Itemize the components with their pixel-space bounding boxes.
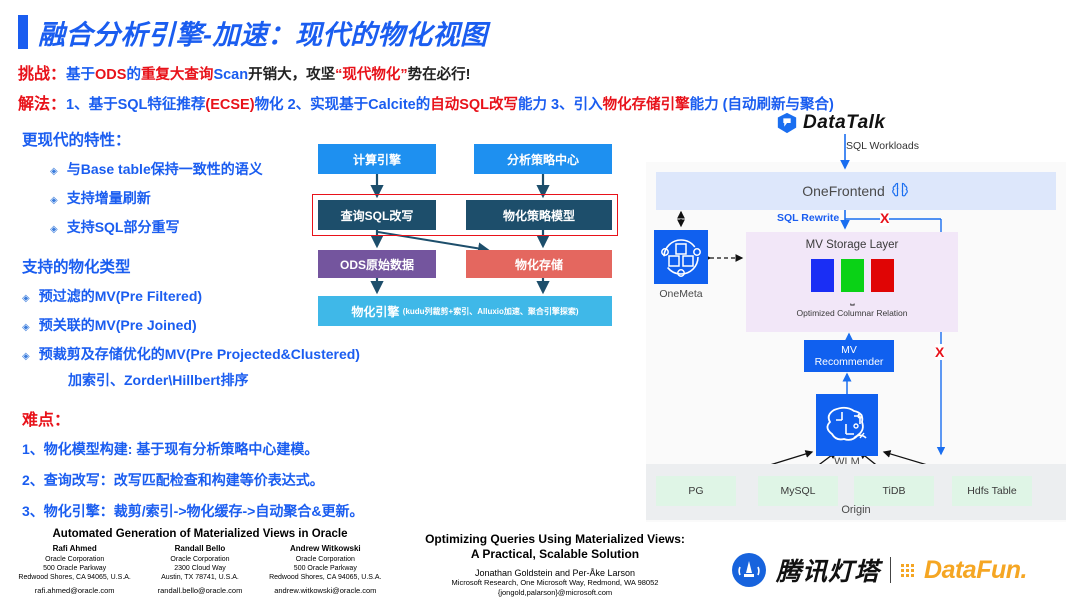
mv-storage-layer[interactable]: MV Storage Layer ⎵ Optimized Columnar Re… — [746, 232, 958, 332]
citation-microsoft-affiliation-line2: {jongold,palarson}@microsoft.com — [390, 588, 720, 598]
column-block-red — [871, 259, 894, 292]
title-text: 融合分析引擎-加速：现代的物化视图 — [38, 13, 488, 52]
flow-box-sql-rewrite[interactable]: 查询SQL改写 — [318, 200, 436, 230]
onemeta-glyph-icon — [654, 230, 708, 284]
logo-divider — [890, 557, 891, 583]
citation-author-affiliation: Oracle Corporation500 Oracle ParkwayRedw… — [12, 555, 137, 582]
type-sub-note: 加索引、Zorder\Hillbert排序 — [68, 370, 462, 390]
columnar-caption: Optimized Columnar Relation — [746, 308, 958, 318]
flow-box-ods-raw-data[interactable]: ODS原始数据 — [318, 250, 436, 278]
mv-recommender-line1: MV — [804, 344, 894, 356]
onemeta-label: OneMeta — [646, 288, 716, 300]
datafun-label: DataFun. — [924, 556, 1027, 585]
citation-author-name: Rafi Ahmed — [12, 544, 137, 553]
diamond-bullet-icon: ◈ — [22, 351, 30, 362]
x-mark-rail: X — [935, 344, 944, 360]
origin-label: Origin — [646, 504, 1066, 516]
source-box-tidb[interactable]: TiDB — [854, 476, 934, 506]
solution-label: 解法： — [18, 96, 66, 113]
text-run-0: 基于 — [66, 67, 95, 83]
solution-text: 1、基于SQL特征推荐(ECSE)物化 2、实现基于Calcite的自动SQL改… — [66, 97, 834, 113]
text-run-10: 物化存储引擎 — [603, 97, 690, 113]
diamond-bullet-icon: ◈ — [22, 322, 30, 333]
x-mark-rewrite: X — [880, 210, 889, 226]
flow-box-policy-center[interactable]: 分析策略中心 — [474, 144, 612, 174]
page-title: 融合分析引擎-加速：现代的物化视图 — [18, 12, 718, 52]
column-block-green — [841, 259, 864, 292]
source-box-hdfs-table[interactable]: Hdfs Table — [952, 476, 1032, 506]
columnar-blocks — [746, 259, 958, 292]
citation-author-email: randall.bello@oracle.com — [137, 586, 262, 595]
citation-microsoft-authors: Jonathan Goldstein and Per-Åke Larson — [390, 568, 720, 578]
citation-oracle-title: Automated Generation of Materialized Vie… — [12, 528, 388, 540]
citation-author-affiliation: Oracle Corporation500 Oracle ParkwayRedw… — [263, 555, 388, 582]
footer-logos: 腾讯灯塔 DataFun. — [732, 552, 1027, 588]
text-run-5: 开销大，攻坚 — [248, 67, 335, 83]
diamond-bullet-icon: ◈ — [50, 195, 58, 206]
text-run-4: 2、实现基于 — [284, 97, 369, 113]
challenge-line: 挑战：基于ODS的重复大查询Scan开销大，攻坚“现代物化”势在必行! — [18, 60, 470, 84]
title-accent-bar — [18, 15, 28, 49]
citation-author-name: Andrew Witkowski — [263, 544, 388, 553]
mv-storage-layer-title: MV Storage Layer — [746, 239, 958, 251]
citation-oracle: Automated Generation of Materialized Vie… — [12, 528, 388, 595]
challenge-text: 基于ODS的重复大查询Scan开销大，攻坚“现代物化”势在必行! — [66, 67, 470, 83]
text-run-7: 势在必行! — [408, 67, 471, 83]
mv-recommender-box[interactable]: MV Recommender — [804, 340, 894, 372]
brain-icon — [890, 181, 910, 201]
column-block-blue — [811, 259, 834, 292]
text-run-7: 自动SQL改写 — [430, 97, 518, 113]
difficulties-heading: 难点： — [22, 406, 462, 430]
architecture-diagram: DataTalk SQL Workloads — [646, 112, 1066, 522]
wlm-icon[interactable] — [816, 394, 878, 456]
citation-microsoft-title: Optimizing Queries Using Materialized Vi… — [390, 532, 720, 562]
sql-rewrite-label: SQL Rewrite — [777, 212, 839, 224]
flow-box-mv-engine-label: 物化引擎 — [351, 303, 399, 320]
text-run-6: “现代物化” — [335, 67, 408, 83]
diamond-bullet-icon: ◈ — [50, 224, 58, 235]
citation-author-email: rafi.ahmed@oracle.com — [12, 586, 137, 595]
citation-author: Rafi AhmedOracle Corporation500 Oracle P… — [12, 544, 137, 595]
flow-box-compute-engine[interactable]: 计算引擎 — [318, 144, 436, 174]
text-run-8: 能力 — [518, 97, 547, 113]
onefrontend-bar[interactable]: OneFrontend — [656, 172, 1056, 210]
text-run-11: 能力 (自动刷新与聚合) — [690, 97, 834, 113]
difficulty-item: 1、物化模型构建: 基于现有分析策略中心建模。 — [22, 439, 462, 459]
difficulty-item: 2、查询改写：改写匹配检查和构建等价表达式。 — [22, 470, 462, 490]
citation-author: Randall BelloOracle Corporation2300 Clou… — [137, 544, 262, 595]
text-run-1: ODS — [95, 67, 126, 83]
type-item-label: 预过滤的MV(Pre Filtered) — [39, 286, 202, 306]
text-run-9: 3、引入 — [547, 97, 603, 113]
source-box-mysql[interactable]: MySQL — [758, 476, 838, 506]
wlm-brain-icon — [816, 394, 878, 456]
diamond-bullet-icon: ◈ — [50, 166, 58, 177]
type-item-label: 预关联的MV(Pre Joined) — [39, 315, 197, 335]
text-run-2: 的 — [126, 67, 141, 83]
text-run-6: 的 — [416, 97, 431, 113]
citation-microsoft-title-line2: A Practical, Scalable Solution — [390, 547, 720, 562]
text-run-5: Calcite — [368, 97, 416, 113]
tencent-lighthouse-label: 腾讯灯塔 — [776, 552, 880, 588]
diamond-bullet-icon: ◈ — [22, 293, 30, 304]
text-run-4: Scan — [213, 67, 248, 83]
onemeta-icon[interactable] — [654, 230, 708, 284]
flow-box-mv-storage[interactable]: 物化存储 — [466, 250, 612, 278]
citation-microsoft-title-line1: Optimizing Queries Using Materialized Vi… — [390, 532, 720, 547]
flow-box-mv-engine[interactable]: 物化引擎 (kudu列裁剪+索引、Alluxio加速、聚合引擎探索) — [318, 296, 612, 326]
text-run-0: 1、基于 — [66, 97, 118, 113]
feature-item-label: 支持SQL部分重写 — [67, 217, 180, 237]
citation-microsoft: Optimizing Queries Using Materialized Vi… — [390, 532, 720, 598]
flow-box-mv-policy-model[interactable]: 物化策略模型 — [466, 200, 612, 230]
brace-icon: ⎵ — [746, 294, 958, 307]
text-run-3: 重复大查询 — [141, 67, 214, 83]
text-run-2: (ECSE) — [205, 97, 254, 113]
mv-recommender-line2: Recommender — [804, 356, 894, 368]
challenge-label: 挑战： — [18, 66, 66, 83]
materialization-flow-diagram: 计算引擎 分析策略中心 查询SQL改写 物化策略模型 ODS原始数据 物化存储 … — [318, 144, 612, 330]
text-run-3: 物化 — [255, 97, 284, 113]
citation-microsoft-affiliation-line1: Microsoft Research, One Microsoft Way, R… — [390, 578, 720, 588]
citation-author-email: andrew.witkowski@oracle.com — [263, 586, 388, 595]
citation-author-name: Randall Bello — [137, 544, 262, 553]
difficulty-item: 3、物化引擎：裁剪/索引->物化缓存->自动聚合&更新。 — [22, 501, 462, 521]
feature-item-label: 支持增量刷新 — [67, 188, 151, 208]
tencent-lighthouse-mark-icon — [732, 553, 766, 587]
solution-line: 解法：1、基于SQL特征推荐(ECSE)物化 2、实现基于Calcite的自动S… — [18, 90, 834, 114]
citation-microsoft-affiliation: Microsoft Research, One Microsoft Way, R… — [390, 578, 720, 598]
type-item: ◈ 预裁剪及存储优化的MV(Pre Projected&Clustered) — [22, 344, 462, 364]
feature-item-label: 与Base table保持一致性的语义 — [67, 159, 263, 179]
source-box-pg[interactable]: PG — [656, 476, 736, 506]
onefrontend-label: OneFrontend — [802, 183, 885, 199]
citation-author-affiliation: Oracle Corporation2300 Cloud WayAustin, … — [137, 555, 262, 582]
datafun-dots-icon — [901, 564, 914, 577]
type-item-label: 预裁剪及存储优化的MV(Pre Projected&Clustered) — [39, 344, 360, 364]
flow-box-mv-engine-note: (kudu列裁剪+索引、Alluxio加速、聚合引擎探索) — [403, 306, 579, 317]
citation-oracle-authors: Rafi AhmedOracle Corporation500 Oracle P… — [12, 544, 388, 595]
citation-author: Andrew WitkowskiOracle Corporation500 Or… — [263, 544, 388, 595]
text-run-1: SQL特征推荐 — [118, 97, 206, 113]
lighthouse-glyph-icon — [732, 553, 766, 587]
